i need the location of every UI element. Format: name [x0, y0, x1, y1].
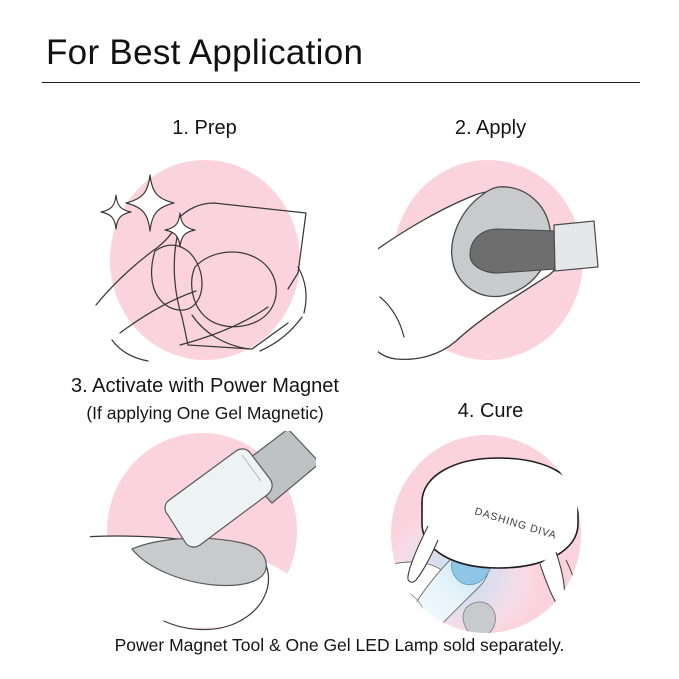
hand-with-sparkles-icon	[92, 155, 318, 365]
step-activate: 3. Activate with Power Magnet (If applyi…	[55, 373, 355, 633]
lamp-scene: DASHING DIVA	[370, 458, 578, 640]
step-activate-sublabel: (If applying One Gel Magnetic)	[55, 401, 355, 425]
secondary-nail	[463, 602, 495, 637]
led-lamp-curing-hand-icon: DASHING DIVA	[370, 430, 610, 640]
instruction-card: For Best Application 1. Prep	[0, 0, 679, 679]
step-apply-label: 2. Apply	[348, 115, 633, 141]
step-apply: 2. Apply	[348, 115, 633, 365]
title-divider	[42, 82, 640, 83]
page-title: For Best Application	[46, 31, 363, 75]
gel-brush-on-nail-icon	[378, 155, 604, 365]
brush-bristle	[470, 229, 556, 273]
cure-illustration: DASHING DIVA	[370, 430, 610, 640]
step-prep: 1. Prep	[62, 115, 347, 365]
power-magnet-tool-over-nail-icon	[90, 431, 316, 631]
step-cure: 4. Cure	[348, 398, 633, 638]
brush-handle	[554, 221, 598, 271]
apply-illustration	[378, 155, 604, 365]
header: For Best Application	[0, 0, 679, 95]
activate-illustration	[90, 431, 316, 631]
step-prep-label: 1. Prep	[62, 115, 347, 141]
footer-note: Power Magnet Tool & One Gel LED Lamp sol…	[0, 633, 679, 657]
step-activate-label: 3. Activate with Power Magnet	[55, 373, 355, 399]
prep-illustration	[92, 155, 318, 365]
step-cure-label: 4. Cure	[348, 398, 633, 424]
